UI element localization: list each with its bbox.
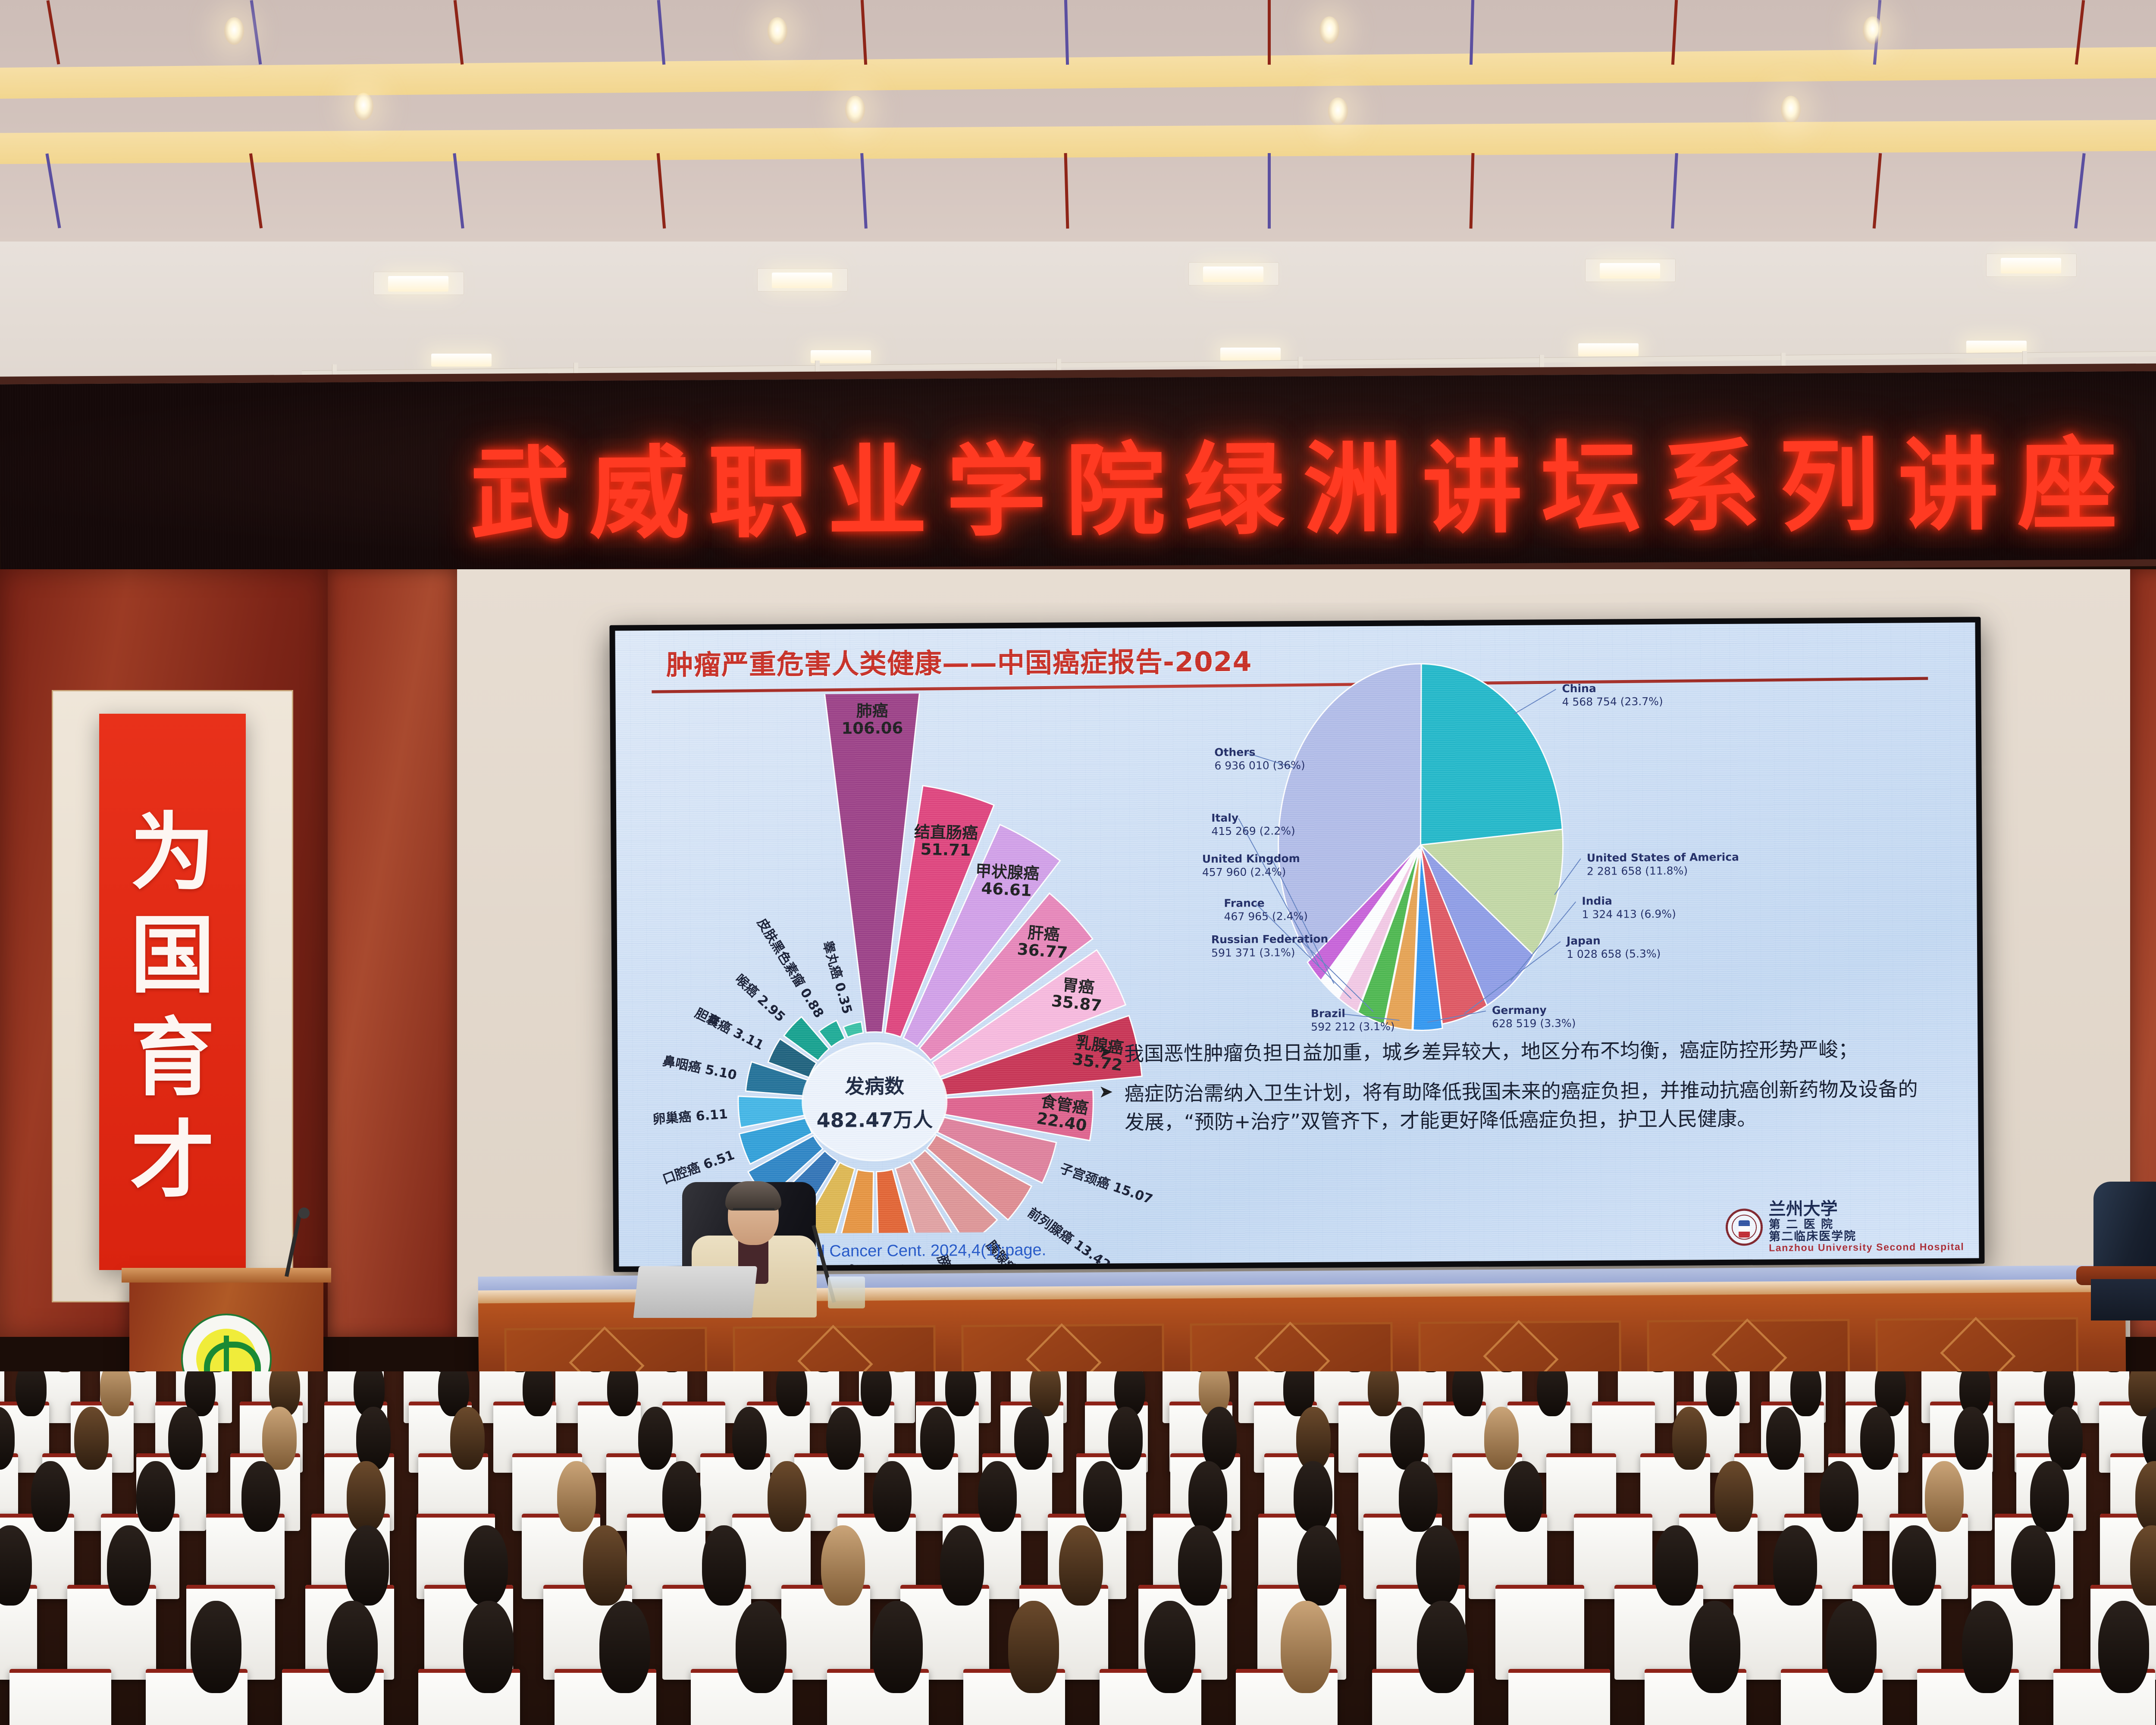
bullet-text-1: 我国恶性肿瘤负担日益加重，城乡差异较大，地区分布不均衡，癌症防控形势严峻； xyxy=(1124,1035,1858,1068)
pie-label: Russian Federation591 371 (3.1%) xyxy=(1211,933,1329,960)
audience-member-head xyxy=(1281,1601,1332,1693)
audience-member-head xyxy=(1484,1407,1519,1470)
audience-member-head xyxy=(262,1407,297,1470)
truss-spotlight-icon xyxy=(1966,341,2027,354)
ceiling-downlight-icon xyxy=(1328,97,1348,125)
audience-member-head xyxy=(638,1407,673,1470)
truss-spotlight-icon xyxy=(811,350,871,363)
lecture-hall-scene: 武威职业学院绿洲讲坛系列讲座 为 国 育 才 为 党 育 人 肿瘤严重危害人类健… xyxy=(0,0,2156,1725)
pie-label-value: 467 965 (2.4%) xyxy=(1224,910,1308,922)
couplet-banner-left: 为 国 育 才 xyxy=(99,714,246,1270)
presenter-laptop xyxy=(633,1266,758,1318)
audience-member-head xyxy=(1766,1407,1801,1470)
audience-member-head xyxy=(2048,1407,2083,1470)
couplet-left-char-4: 才 xyxy=(130,1119,215,1203)
rose-label-name: 肺癌 xyxy=(841,703,903,720)
audience-member-head xyxy=(1504,1461,1543,1532)
hospital-logo: 兰州大学 第 二 医 院 第二临床医学院 Lanzhou University … xyxy=(1726,1200,1965,1254)
slide-bullet-list: ➤ 我国恶性肿瘤负担日益加重，城乡差异较大，地区分布不均衡，癌症防控形势严峻； … xyxy=(1098,1035,1931,1148)
ceiling-accent-strip xyxy=(1268,153,1271,229)
rose-label-value: 51.71 xyxy=(914,841,978,859)
ceiling-downlight-icon xyxy=(224,17,244,45)
bullet-text-2: 癌症防治需纳入卫生计划，将有助降低我国未来的癌症负担，并推动抗癌创新药物及设备的… xyxy=(1124,1075,1931,1137)
pie-label: China4 568 754 (23.7%) xyxy=(1562,682,1663,709)
rose-inner-label: 食管癌22.40 xyxy=(1035,1093,1091,1135)
audience-member-head xyxy=(1826,1601,1877,1693)
audience-member-head xyxy=(1820,1461,1858,1532)
pie-label-country: Others xyxy=(1214,746,1305,759)
podium-top-surface xyxy=(122,1268,331,1283)
rose-inner-label: 胃癌35.87 xyxy=(1050,975,1104,1015)
global-cancer-pie-chart: China4 568 754 (23.7%)United States of A… xyxy=(1172,658,1670,1041)
pie-label-country: France xyxy=(1224,897,1308,910)
audience-member-head xyxy=(1294,1461,1332,1532)
audience-member-head xyxy=(978,1461,1017,1532)
pie-label-value: 591 371 (3.1%) xyxy=(1211,946,1295,959)
truss-spotlight-icon xyxy=(431,354,492,367)
audience-member-head xyxy=(523,1371,554,1416)
audience-member-head xyxy=(873,1461,912,1532)
audience-member-head xyxy=(1390,1407,1425,1470)
led-banner-text: 武威职业学院绿洲讲坛系列讲座 xyxy=(0,401,2156,561)
pie-label-value: 2 281 658 (11.8%) xyxy=(1587,864,1688,877)
audience-member-head xyxy=(702,1525,746,1606)
presentation-slide: 肿瘤严重危害人类健康——中国癌症报告-2024 发病数 482.47万人 肺癌1… xyxy=(615,622,1979,1266)
audience-member-head xyxy=(1059,1525,1103,1606)
audience-member-head xyxy=(1188,1461,1227,1532)
audience-member-head xyxy=(1178,1525,1222,1606)
audience-member-head xyxy=(1083,1461,1122,1532)
pie-label-value: 628 519 (3.3%) xyxy=(1492,1017,1576,1030)
audience-chair xyxy=(1508,1669,1610,1725)
pie-label-value: 6 936 010 (36%) xyxy=(1214,759,1305,772)
audience-member-head xyxy=(347,1461,385,1532)
audience-member-head xyxy=(16,1371,47,1416)
audience-member-head xyxy=(920,1407,955,1470)
audience-member-head xyxy=(136,1461,175,1532)
audience-member-head xyxy=(1954,1407,1989,1470)
pie-label-country: United Kingdom xyxy=(1202,852,1300,866)
audience-member-head xyxy=(1416,1525,1460,1606)
audience-member-head xyxy=(1654,1525,1698,1606)
audience-member-head xyxy=(1202,1407,1237,1470)
audience-member-head xyxy=(1892,1525,1936,1606)
rose-label-value: 36.77 xyxy=(1016,941,1068,962)
pie-label: Others6 936 010 (36%) xyxy=(1214,746,1305,772)
rose-inner-label: 甲状腺癌46.61 xyxy=(974,862,1040,900)
hospital-name-cn-sub1: 第 二 医 院 xyxy=(1769,1218,1964,1231)
audience-member-head xyxy=(1714,1461,1753,1532)
audience-member-head xyxy=(1925,1461,1964,1532)
audience-member-head xyxy=(1108,1407,1143,1470)
hospital-seal-icon xyxy=(1726,1209,1763,1246)
audience-member-head xyxy=(1297,1525,1341,1606)
tea-cups xyxy=(828,1276,865,1308)
audience-member-head xyxy=(2030,1461,2069,1532)
led-banner: 武威职业学院绿洲讲坛系列讲座 xyxy=(0,361,2156,580)
pie-slice xyxy=(1420,663,1562,845)
audience-member-head xyxy=(107,1525,151,1606)
pie-label: India1 324 413 (6.9%) xyxy=(1582,894,1676,921)
rose-inner-label: 肝癌36.77 xyxy=(1016,924,1069,962)
audience-chair xyxy=(1495,1585,1584,1680)
audience-member-head xyxy=(599,1601,650,1693)
pie-chart-svg xyxy=(1172,658,1670,1041)
bullet-arrow-icon: ➤ xyxy=(1098,1040,1113,1069)
pie-label-country: Italy xyxy=(1211,811,1295,825)
pie-label: France467 965 (2.4%) xyxy=(1224,897,1308,923)
rose-center-line2: 482.47万人 xyxy=(816,1104,933,1133)
truss-spotlight-icon xyxy=(1578,343,1639,356)
audience-seating-area xyxy=(0,1371,2156,1725)
audience-member-head xyxy=(872,1601,923,1693)
audience-member-head xyxy=(1860,1407,1895,1470)
speaker-glasses-icon xyxy=(733,1208,774,1217)
wall-slot-light-icon xyxy=(1203,267,1263,282)
pie-label-value: 415 269 (2.2%) xyxy=(1211,825,1295,837)
bullet-item-2: ➤ 癌症防治需纳入卫生计划，将有助降低我国未来的癌症负担，并推动抗癌创新药物及设… xyxy=(1099,1075,1931,1137)
pie-label-value: 1 028 658 (5.3%) xyxy=(1567,947,1661,960)
audience-member-head xyxy=(821,1525,865,1606)
audience-member-head xyxy=(557,1461,596,1532)
audience-member-head xyxy=(1014,1407,1049,1470)
pie-label: Italy415 269 (2.2%) xyxy=(1211,811,1295,838)
audience-member-head xyxy=(345,1525,389,1606)
ceiling-downlight-icon xyxy=(768,17,787,45)
podium-mic-head-icon xyxy=(298,1207,310,1219)
audience-member-head xyxy=(168,1407,203,1470)
pie-label-value: 592 212 (3.1%) xyxy=(1311,1020,1395,1033)
audience-member-head xyxy=(768,1461,806,1532)
wall-slot-light-icon xyxy=(1600,263,1660,279)
hospital-logo-text: 兰州大学 第 二 医 院 第二临床医学院 Lanzhou University … xyxy=(1769,1200,1965,1253)
pie-label-country: Russian Federation xyxy=(1211,933,1329,947)
pie-label: United States of America2 281 658 (11.8%… xyxy=(1587,851,1739,878)
audience-member-head xyxy=(31,1461,70,1532)
pie-leader-line xyxy=(1514,689,1556,714)
audience-member-head xyxy=(241,1461,280,1532)
audience-member-head xyxy=(1144,1601,1195,1693)
pie-label-country: India xyxy=(1582,894,1676,908)
audience-member-head xyxy=(1672,1407,1707,1470)
wood-panel-left-inner xyxy=(328,569,457,1337)
ceiling-downlight-icon xyxy=(354,93,373,120)
audience-member-head xyxy=(1790,1371,1821,1416)
audience-member-head xyxy=(1452,1371,1483,1416)
audience-member-head xyxy=(1399,1461,1438,1532)
audience-member-head xyxy=(736,1601,787,1693)
pie-label-country: United States of America xyxy=(1587,851,1739,865)
audience-member-head xyxy=(1773,1525,1817,1606)
ceiling-downlight-icon xyxy=(845,96,865,123)
empty-stage-chair xyxy=(2076,1182,2156,1324)
audience-chair xyxy=(9,1669,111,1725)
pie-label-country: China xyxy=(1562,682,1663,696)
truss-spotlight-icon xyxy=(1220,348,1281,361)
stage-chair-seat xyxy=(2091,1279,2156,1320)
audience-member-head xyxy=(826,1407,861,1470)
couplet-left-char-3: 育 xyxy=(130,1016,215,1101)
audience-member-head xyxy=(732,1407,767,1470)
rose-chart-svg xyxy=(663,692,1175,1234)
audience-member-head xyxy=(1008,1601,1059,1693)
pie-label: Germany628 519 (3.3%) xyxy=(1492,1004,1576,1030)
rose-inner-label: 结直肠癌51.71 xyxy=(914,824,978,859)
audience-member-head xyxy=(450,1407,485,1470)
rose-petal xyxy=(843,1022,863,1037)
audience-member-head xyxy=(1368,1371,1399,1416)
audience-member-head xyxy=(1417,1601,1468,1693)
bullet-arrow-icon: ➤ xyxy=(1099,1079,1113,1137)
rose-label-name: 结直肠癌 xyxy=(914,824,978,842)
audience-member-head xyxy=(940,1525,984,1606)
audience-member-head xyxy=(776,1371,807,1416)
slide-title: 肿瘤严重危害人类健康——中国癌症报告-2024 xyxy=(666,640,1252,683)
ceiling-downlight-icon xyxy=(1863,16,1883,44)
rose-label-value: 106.06 xyxy=(841,720,903,737)
nightingale-rose-chart: 发病数 482.47万人 肺癌106.06结直肠癌51.71甲状腺癌46.61肝… xyxy=(663,692,1175,1234)
hospital-name-cn: 兰州大学 xyxy=(1769,1200,1964,1219)
wall-slot-light-icon xyxy=(772,273,832,288)
pie-label-country: Brazil xyxy=(1311,1007,1395,1021)
audience-member-head xyxy=(1537,1371,1568,1416)
audience-member-head xyxy=(464,1525,508,1606)
ceiling-accent-strip xyxy=(1268,0,1271,65)
rose-label-value: 46.61 xyxy=(974,880,1039,900)
audience-member-head xyxy=(662,1461,701,1532)
audience-member-head xyxy=(100,1371,131,1416)
ceiling-downlight-icon xyxy=(1319,16,1339,44)
couplet-left-char-1: 为 xyxy=(130,811,215,895)
wall-slot-light-icon xyxy=(388,276,448,292)
audience-member-head xyxy=(583,1525,627,1606)
ceiling-downlight-icon xyxy=(1781,96,1801,123)
pie-label: Brazil592 212 (3.1%) xyxy=(1311,1007,1395,1034)
audience-member-head xyxy=(74,1407,109,1470)
audience-member-head xyxy=(327,1601,378,1693)
audience-member-head xyxy=(1962,1601,2013,1693)
audience-member-head xyxy=(861,1371,892,1416)
pie-label-country: Germany xyxy=(1492,1004,1576,1017)
audience-member-head xyxy=(2011,1525,2055,1606)
pie-label-country: Japan xyxy=(1567,934,1661,948)
rose-chart-center-label: 发病数 482.47万人 xyxy=(803,1044,946,1160)
bullet-item-1: ➤ 我国恶性肿瘤负担日益加重，城乡差异较大，地区分布不均衡，癌症防控形势严峻； xyxy=(1098,1035,1930,1068)
rose-inner-label: 肺癌106.06 xyxy=(841,703,903,737)
pie-label: Japan1 028 658 (5.3%) xyxy=(1567,934,1661,961)
hospital-name-en: Lanzhou University Second Hospital xyxy=(1769,1242,1964,1254)
projection-screen-frame: 肿瘤严重危害人类健康——中国癌症报告-2024 发病数 482.47万人 肺癌1… xyxy=(609,617,1984,1272)
rose-center-line1: 发病数 xyxy=(845,1071,904,1100)
audience-member-head xyxy=(2098,1601,2149,1693)
audience-member-head xyxy=(1706,1371,1737,1416)
audience-member-head xyxy=(607,1371,638,1416)
audience-member-head xyxy=(945,1371,976,1416)
pie-label-value: 4 568 754 (23.7%) xyxy=(1562,695,1663,708)
pie-label-value: 1 324 413 (6.9%) xyxy=(1582,907,1676,920)
wall-slot-light-icon xyxy=(2001,258,2061,273)
audience-member-head xyxy=(356,1407,391,1470)
audience-member-head xyxy=(463,1601,514,1693)
pie-label-value: 457 960 (2.4%) xyxy=(1202,866,1286,878)
couplet-left-char-2: 国 xyxy=(130,913,215,998)
pie-label: United Kingdom457 960 (2.4%) xyxy=(1202,852,1300,879)
audience-member-head xyxy=(1689,1601,1740,1693)
audience-member-head xyxy=(191,1601,241,1693)
audience-member-head xyxy=(1296,1407,1331,1470)
